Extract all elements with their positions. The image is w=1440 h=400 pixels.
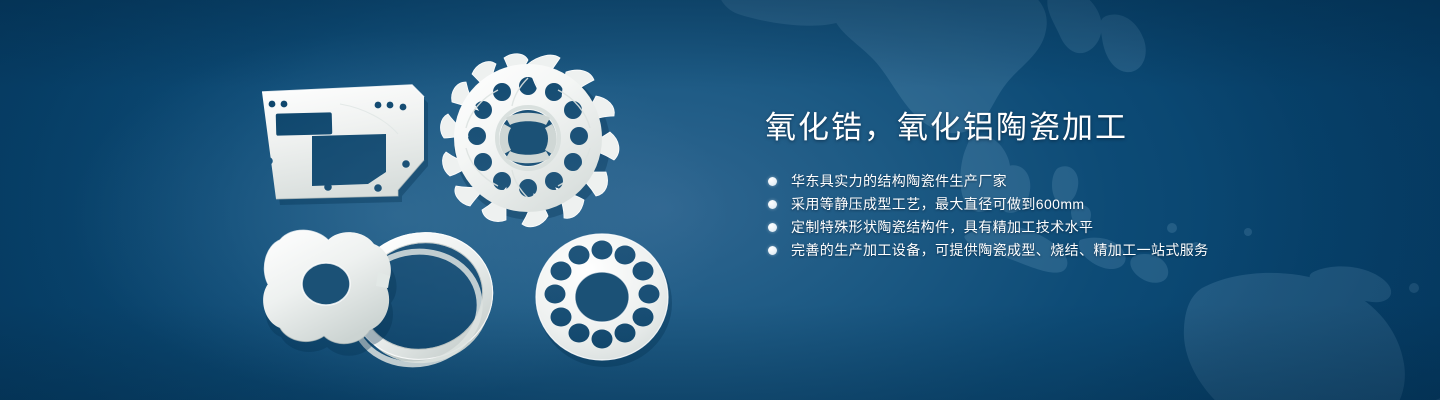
marketing-copy-block: 氧化锆，氧化铝陶瓷加工 华东具实力的结构陶瓷件生产厂家 采用等静压成型工艺，最大… — [765, 108, 1385, 262]
bullet-dot-icon — [768, 246, 777, 255]
product-ceramic-plate — [262, 85, 428, 205]
feature-text: 采用等静压成型工艺，最大直径可做到600mm — [791, 196, 1084, 212]
list-item: 华东具实力的结构陶瓷件生产厂家 — [765, 170, 1385, 193]
product-ceramic-perforated-disc — [530, 228, 680, 368]
list-item: 采用等静压成型工艺，最大直径可做到600mm — [765, 193, 1385, 216]
hero-banner: 氧化锆，氧化铝陶瓷加工 华东具实力的结构陶瓷件生产厂家 采用等静压成型工艺，最大… — [0, 0, 1440, 400]
list-item: 定制特殊形状陶瓷结构件，具有精加工技术水平 — [765, 216, 1385, 239]
feature-text: 完善的生产加工设备，可提供陶瓷成型、烧结、精加工一站式服务 — [791, 242, 1209, 258]
feature-list: 华东具实力的结构陶瓷件生产厂家 采用等静压成型工艺，最大直径可做到600mm 定… — [765, 170, 1385, 262]
bullet-dot-icon — [768, 177, 777, 186]
list-item: 完善的生产加工设备，可提供陶瓷成型、烧结、精加工一站式服务 — [765, 239, 1385, 262]
product-ceramic-impeller — [441, 54, 619, 227]
feature-text: 定制特殊形状陶瓷结构件，具有精加工技术水平 — [791, 219, 1093, 235]
product-image-group — [0, 0, 740, 400]
feature-text: 华东具实力的结构陶瓷件生产厂家 — [791, 173, 1007, 189]
page-title: 氧化锆，氧化铝陶瓷加工 — [765, 108, 1385, 148]
bullet-dot-icon — [768, 200, 777, 209]
bullet-dot-icon — [768, 223, 777, 232]
product-ceramic-cross-part — [263, 230, 396, 356]
